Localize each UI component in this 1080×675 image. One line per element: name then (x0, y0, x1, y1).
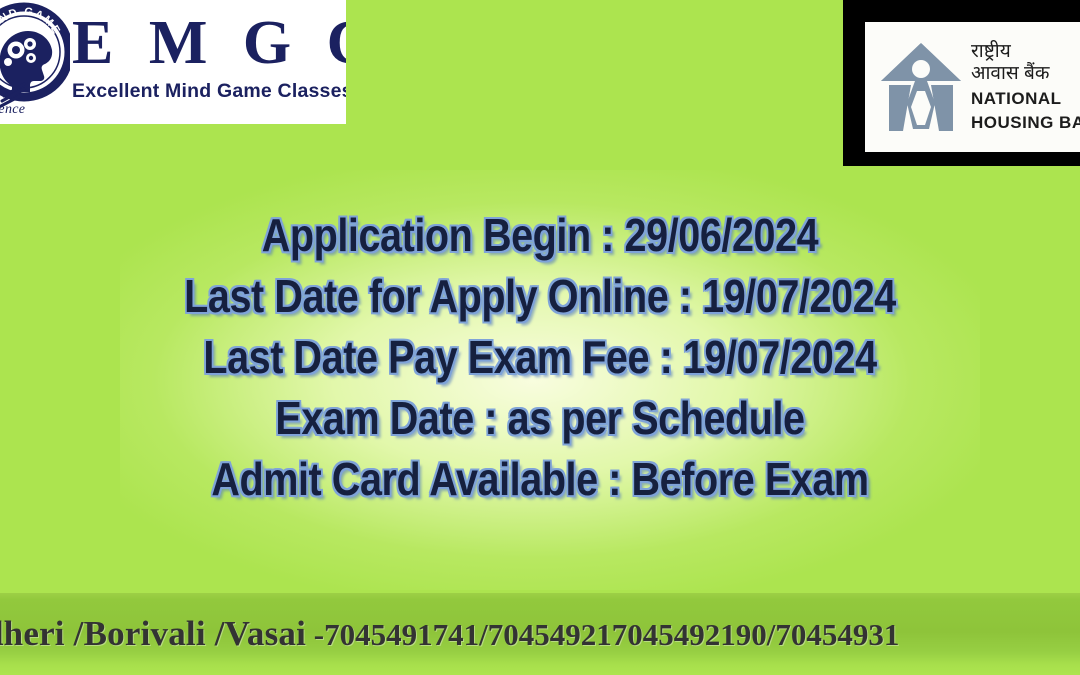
nhb-logo-card: राष्ट्रीय आवास बैंक NATIONAL HOUSING BAN… (865, 22, 1080, 152)
contact-text: dheri /Borivali /Vasai -7045491741/70454… (0, 614, 899, 655)
poster-canvas: MIND GAME excellence E M G C Excellent M… (0, 0, 1080, 675)
date-line-last-date-apply-online: Last Date for Apply Online : 19/07/2024 (82, 266, 997, 327)
nhb-logo-frame: राष्ट्रीय आवास बैंक NATIONAL HOUSING BAN… (843, 0, 1080, 166)
date-line-last-date-pay-exam-fee: Last Date Pay Exam Fee : 19/07/2024 (82, 327, 997, 388)
emgc-tagline: Excellent Mind Game Classes (72, 80, 346, 102)
nhb-hindi-line2: आवास बैंक (971, 63, 1080, 85)
emgc-logo-panel: MIND GAME excellence E M G C Excellent M… (0, 0, 346, 124)
date-line-exam-date: Exam Date : as per Schedule (82, 388, 997, 449)
emgc-badge-icon: MIND GAME excellence (0, 0, 70, 124)
emgc-letters: E M G C (72, 8, 346, 78)
nhb-english-line1: NATIONAL (971, 89, 1080, 109)
phone-numbers: -7045491741/704549217045492190/70454931 (306, 617, 899, 652)
nhb-english-line2: HOUSING BANK (971, 113, 1080, 133)
emgc-wordmark: E M G C Excellent Mind Game Classes (70, 0, 346, 102)
house-person-icon (879, 41, 963, 133)
contact-bar: dheri /Borivali /Vasai -7045491741/70454… (0, 593, 1080, 675)
nhb-wordmark: राष्ट्रीय आवास बैंक NATIONAL HOUSING BAN… (971, 41, 1080, 133)
date-line-application-begin: Application Begin : 29/06/2024 (82, 205, 997, 266)
date-line-admit-card-available: Admit Card Available : Before Exam (82, 449, 997, 510)
emgc-excellence-script: excellence (0, 102, 25, 118)
important-dates-list: Application Begin : 29/06/2024 Last Date… (0, 205, 1080, 510)
branch-locations: dheri /Borivali /Vasai (0, 614, 306, 653)
nhb-hindi-line1: राष्ट्रीय (971, 41, 1080, 63)
